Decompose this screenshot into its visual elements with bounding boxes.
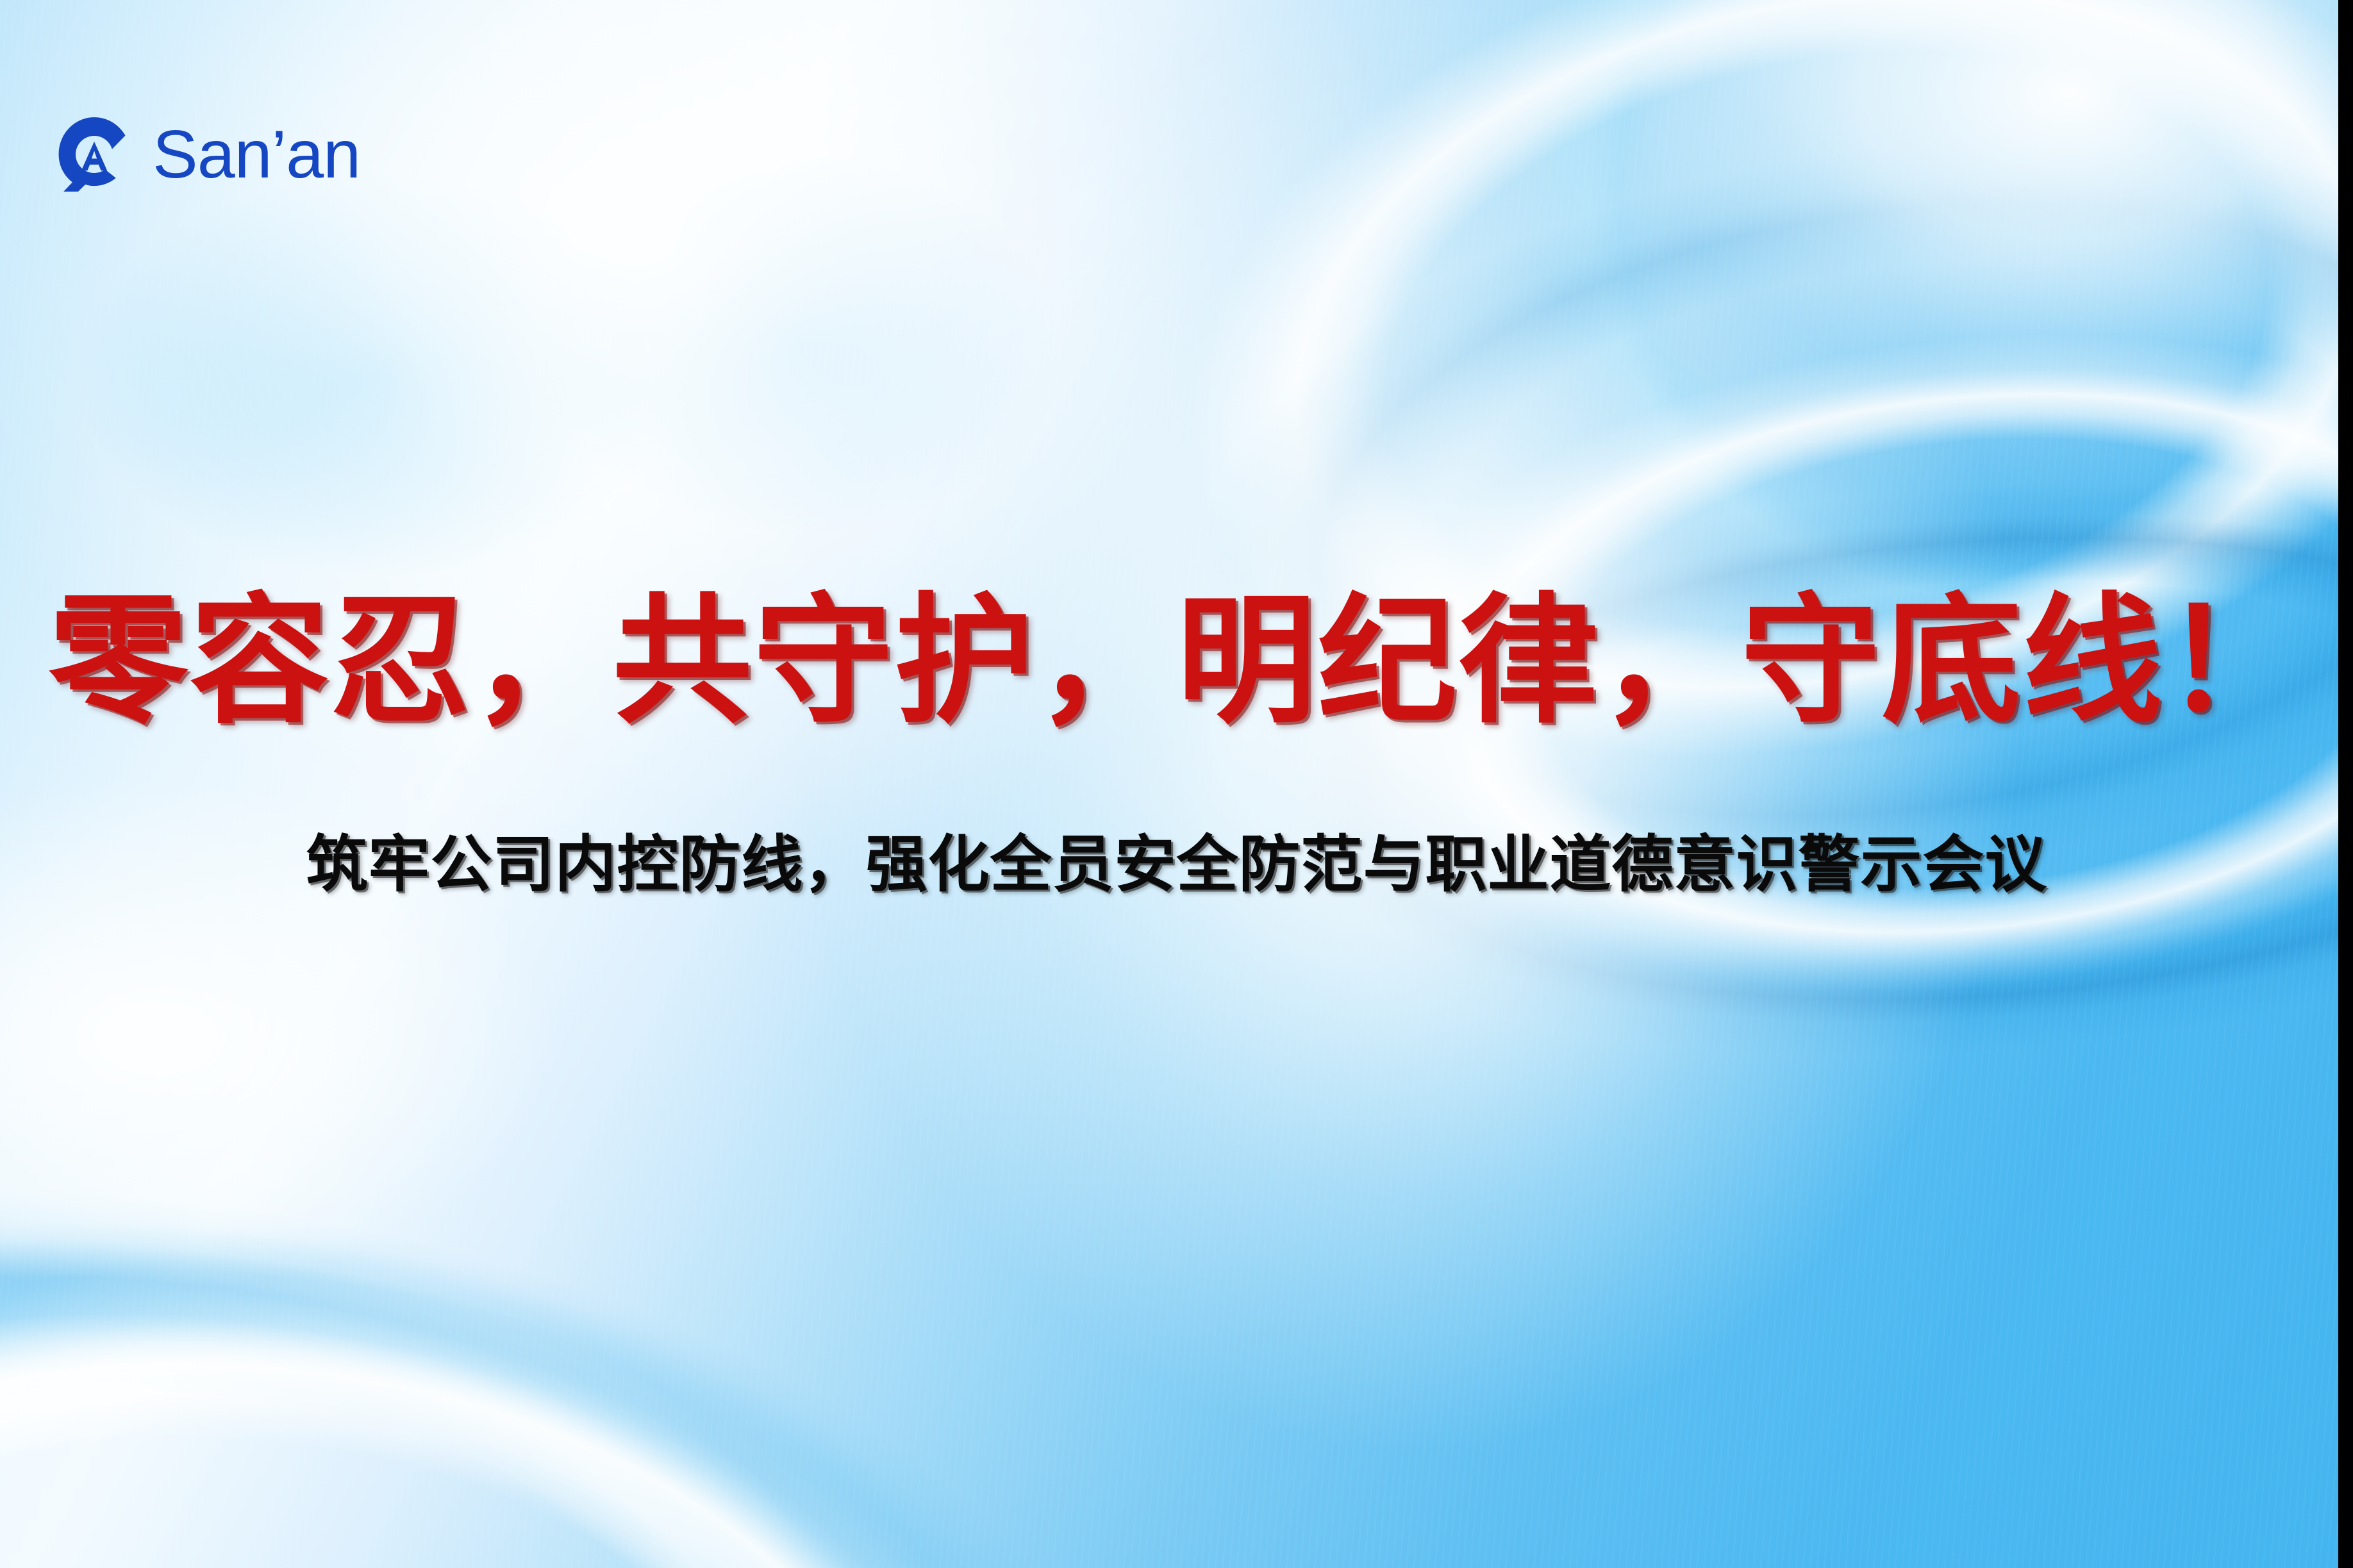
background-wave-bottom-2	[0, 1160, 1168, 1568]
background-wave-right-4	[1089, 389, 2353, 1149]
right-edge-trim	[2338, 0, 2353, 1568]
background-blue-blotch-left	[0, 0, 2353, 1568]
background-wave-bottom-4	[0, 1168, 1006, 1568]
background-blue-blotch-center	[0, 0, 2353, 1568]
presentation-slide: San’an 零容忍，共守护，明纪律，守底线！ 筑牢公司内控防线，强化全员安全防…	[0, 0, 2353, 1568]
background-wave-right-1	[975, 0, 2353, 970]
background-base-gradient	[0, 0, 2353, 1568]
slide-headline: 零容忍，共守护，明纪律，守底线！	[0, 586, 2353, 737]
background-wave-bottom-3	[0, 1050, 1242, 1568]
background-wave-bottom-1	[0, 1086, 1207, 1568]
background-streak-texture	[0, 0, 2353, 1568]
background-white-wash-c	[0, 0, 2353, 1568]
sanan-circle-a-logo-icon	[54, 114, 135, 195]
background-white-wash-a	[0, 0, 2353, 1568]
brand-logo: San’an	[54, 114, 360, 195]
background-white-wash-d	[0, 0, 2353, 1568]
brand-wordmark: San’an	[153, 120, 360, 188]
slide-subtitle: 筑牢公司内控防线，强化全员安全防范与职业道德意识警示会议	[0, 828, 2353, 902]
background-white-wash-b	[0, 0, 2353, 1568]
